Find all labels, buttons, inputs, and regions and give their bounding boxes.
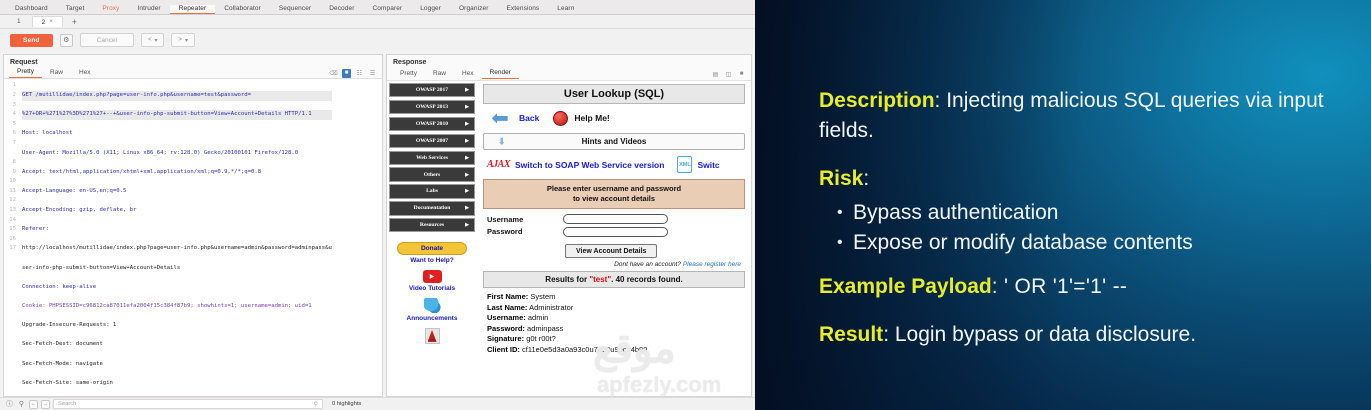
chevron-down-icon: ▾ xyxy=(154,37,157,44)
sidebar-item-web-services[interactable]: Web Services▶ xyxy=(389,151,475,165)
chevron-right-icon: ▶ xyxy=(465,138,469,144)
request-editor[interactable]: 1 2 3 4 5 6 7 8 9 10 11 12 13 1 xyxy=(4,79,382,396)
response-tools: ▤ ◫ ■ xyxy=(711,70,746,79)
request-line: Cookie: PHPSESSID=c96812ca87011efa2004f1… xyxy=(22,302,332,312)
request-line: Connection: keep-alive xyxy=(22,283,332,293)
line-number: 11 xyxy=(4,187,16,197)
username-label: Username xyxy=(483,215,563,224)
search-mode-icon[interactable]: ⚲ xyxy=(17,400,26,409)
risk-item: Bypass authentication xyxy=(853,198,1341,228)
payload-text: : ' OR '1'='1' -- xyxy=(992,275,1127,298)
request-line: Sec-Fetch-Dest: document xyxy=(22,340,332,350)
line-number: 10 xyxy=(4,177,16,187)
add-tab-button[interactable]: + xyxy=(65,17,84,27)
back-icon[interactable]: ← xyxy=(29,400,38,409)
main-tab-dashboard[interactable]: Dashboard xyxy=(6,5,57,15)
sidebar-item-owasp-2013[interactable]: OWASP 2013▶ xyxy=(389,100,475,114)
repeater-tab-1[interactable]: 1 xyxy=(8,17,30,27)
line-number: 8 xyxy=(4,158,16,168)
chevron-right-icon: ▶ xyxy=(465,104,469,110)
sidebar-item-owasp-2007[interactable]: OWASP 2007▶ xyxy=(389,134,475,148)
highlights-count: 0 highlights xyxy=(326,401,361,407)
password-label: Password xyxy=(483,227,563,236)
response-tab-render[interactable]: Render xyxy=(482,69,519,79)
next-label: > xyxy=(178,37,182,43)
request-tab-bar: Pretty Raw Hex ⌫ ■ ☷ ☰ xyxy=(4,68,382,79)
line-number: 16 xyxy=(4,235,16,245)
line-number: 17 xyxy=(4,244,16,254)
line-number: 9 xyxy=(4,168,16,178)
sidebar-label: Resources xyxy=(420,222,444,228)
sidebar-item-labs[interactable]: Labs▶ xyxy=(389,184,475,198)
main-tab-decoder[interactable]: Decoder xyxy=(320,5,363,15)
chevron-down-icon: ⬇ xyxy=(498,136,506,147)
response-pane: Response Pretty Raw Hex Render ▤ ◫ ■ OWA… xyxy=(386,54,752,397)
help-button-icon[interactable] xyxy=(553,111,568,126)
split-vertical-icon[interactable]: ▤ xyxy=(711,70,720,79)
record-label: Client ID: xyxy=(487,345,520,354)
main-tab-target[interactable]: Target xyxy=(57,5,94,15)
risk-list: Bypass authentication Expose or modify d… xyxy=(819,198,1341,258)
record-row: Username: admin xyxy=(487,313,745,324)
split-horizontal-icon[interactable]: ◫ xyxy=(724,70,733,79)
request-line: Upgrade-Insecure-Requests: 1 xyxy=(22,321,332,331)
record-list: First Name: System Last Name: Administra… xyxy=(483,292,745,355)
request-tools: ⌫ ■ ☷ ☰ xyxy=(329,69,377,78)
results-prefix: Results for xyxy=(545,275,589,284)
slide-content: Description: Injecting malicious SQL que… xyxy=(755,0,1371,350)
record-row: Client ID: cf11e0e5d3a0a93c0u7ud0u9bc24b… xyxy=(487,345,745,356)
send-button[interactable]: Send xyxy=(10,34,53,47)
chevron-right-icon: ▶ xyxy=(465,172,469,178)
request-tab-hex[interactable]: Hex xyxy=(71,69,99,78)
request-line: Accept-Language: en-US,en;q=0.5 xyxy=(22,187,332,197)
request-line: GET /mutillidae/index.php?page=user-info… xyxy=(22,91,332,101)
results-suffix: . 40 records found. xyxy=(611,275,683,284)
payload-key: Example Payload xyxy=(819,275,992,298)
sidebar-label: Labs xyxy=(426,188,438,194)
prev-label: < xyxy=(148,37,152,43)
request-pane: Request Pretty Raw Hex ⌫ ■ ☷ ☰ 1 2 xyxy=(3,54,383,397)
record-value: g0t r00t? xyxy=(526,334,556,343)
line-number-gutter: 1 2 3 4 5 6 7 8 9 10 11 12 13 1 xyxy=(4,79,19,396)
gear-icon[interactable]: ⚙ xyxy=(60,34,73,47)
sidebar-promos: Donate Want to Help? ▶ Video Tutorials A… xyxy=(389,235,475,344)
request-line: %27+OR+%271%27%3D%271%27+--+&user-info-p… xyxy=(22,110,332,120)
response-tab-pretty[interactable]: Pretty xyxy=(392,70,425,79)
request-line: User-Agent: Mozilla/5.0 (X11; Linux x86_… xyxy=(22,149,332,159)
main-tab-intruder[interactable]: Intruder xyxy=(129,5,170,15)
record-row: Signature: g0t r00t? xyxy=(487,334,745,345)
line-number: 6 xyxy=(4,129,16,139)
line-number: 14 xyxy=(4,216,16,226)
record-value: Administrator xyxy=(529,303,573,312)
back-arrow-icon[interactable]: ⬅ xyxy=(487,108,513,128)
sidebar-item-owasp-2010[interactable]: OWASP 2010▶ xyxy=(389,117,475,131)
register-row: Dont have an account? Please register he… xyxy=(483,261,745,268)
record-value: cf11e0e5d3a0a93c0u7ud0u9bc24b9̰9 xyxy=(522,345,647,354)
risk-colon: : xyxy=(863,167,869,190)
chevron-right-icon: ▶ xyxy=(465,188,469,194)
risk-block: Risk: xyxy=(819,164,1341,194)
request-line: ser-info-php-submit-button=View+Account+… xyxy=(22,264,332,274)
next-request-button[interactable]: > ▾ xyxy=(171,33,195,47)
request-line: Sec-Fetch-Mode: navigate xyxy=(22,360,332,370)
search-icon[interactable]: ⚲ xyxy=(314,401,318,408)
line-number: 5 xyxy=(4,120,16,130)
menu-icon[interactable]: ☰ xyxy=(368,69,377,78)
rendered-response: OWASP 2017▶ OWASP 2013▶ OWASP 2010▶ OWAS… xyxy=(387,81,751,396)
sidebar-item-owasp-2017[interactable]: OWASP 2017▶ xyxy=(389,83,475,97)
mutillidae-sidebar: OWASP 2017▶ OWASP 2013▶ OWASP 2010▶ OWAS… xyxy=(387,81,477,396)
description-block: Description: Injecting malicious SQL que… xyxy=(819,86,1341,146)
record-value: admin xyxy=(528,313,548,322)
chevron-right-icon: ▶ xyxy=(465,87,469,93)
ajax-icon: AJAX xyxy=(487,159,510,170)
response-tab-hex[interactable]: Hex xyxy=(454,70,482,79)
password-row: Password xyxy=(483,227,745,237)
request-line: Accept-Encoding: gzip, deflate, br xyxy=(22,206,332,216)
record-label: Last Name: xyxy=(487,303,527,312)
request-line: Accept: text/html,application/xhtml+xml,… xyxy=(22,168,332,178)
sidebar-item-documentation[interactable]: Documentation▶ xyxy=(389,201,475,215)
record-value: System xyxy=(530,292,555,301)
format-icon[interactable]: ■ xyxy=(342,69,351,78)
password-input[interactable] xyxy=(563,227,668,237)
request-tab-raw[interactable]: Raw xyxy=(42,69,71,78)
record-label: First Name: xyxy=(487,292,528,301)
result-block: Result: Login bypass or data disclosure. xyxy=(819,320,1341,350)
pdf-icon[interactable] xyxy=(425,328,440,344)
xml-switch-link[interactable]: Switc xyxy=(697,160,719,170)
inspector-icon[interactable]: ☷ xyxy=(355,69,364,78)
record-row: First Name: System xyxy=(487,292,745,303)
chevron-right-icon: ▶ xyxy=(465,155,469,161)
request-line: Sec-Fetch-Site: same-origin xyxy=(22,379,332,389)
main-tab-organizer[interactable]: Organizer xyxy=(450,5,497,15)
record-label: Signature: xyxy=(487,334,524,343)
username-input[interactable] xyxy=(563,214,668,224)
status-bar: ⓘ ⚲ ← → Search ⚲ 0 highlights xyxy=(0,397,755,410)
help-me-label[interactable]: Help Me! xyxy=(574,113,609,123)
repeater-toolbar: Send ⚙ Cancel < ▾ > ▾ xyxy=(0,29,755,51)
line-number: 15 xyxy=(4,225,16,235)
back-link[interactable]: Back xyxy=(519,113,539,123)
response-title: Response xyxy=(387,55,751,68)
youtube-icon[interactable]: ▶ xyxy=(423,270,442,283)
main-tab-proxy[interactable]: Proxy xyxy=(93,5,128,15)
repeater-tab-2[interactable]: 2 × xyxy=(32,16,63,27)
result-text: : Login bypass or data disclosure. xyxy=(883,323,1196,346)
login-notice: Please enter username and password to vi… xyxy=(483,179,745,209)
line-number: 2 xyxy=(4,91,16,101)
username-row: Username xyxy=(483,214,745,224)
mutillidae-content: User Lookup (SQL) ⬅ Back Help Me! ⬇ Hint… xyxy=(477,81,751,396)
result-key: Result xyxy=(819,323,883,346)
search-input[interactable]: Search ⚲ xyxy=(53,399,323,409)
repeater-tab-2-label: 2 xyxy=(42,19,46,26)
line-number: 7 xyxy=(4,139,16,149)
view-account-details-button[interactable]: View Account Details xyxy=(565,244,657,258)
close-icon[interactable]: × xyxy=(49,19,53,25)
forward-icon[interactable]: → xyxy=(41,400,50,409)
service-switch-row: AJAX Switch to SOAP Web Service version … xyxy=(487,156,745,173)
main-tab-bar: Dashboard Target Proxy Intruder Repeater… xyxy=(0,0,755,15)
register-link[interactable]: Please register here xyxy=(683,261,741,268)
twitter-bird-icon[interactable] xyxy=(424,298,441,313)
repeater-tab-bar: 1 2 × + xyxy=(0,15,755,29)
line-number: 3 xyxy=(4,101,16,111)
record-label: Username: xyxy=(487,313,526,322)
line-number: 4 xyxy=(4,110,16,120)
description-key: Description xyxy=(819,89,935,112)
request-title: Request xyxy=(4,55,382,68)
request-line: Referer: xyxy=(22,225,332,235)
record-row: Password: adminpass xyxy=(487,324,745,335)
spacer xyxy=(819,258,1341,272)
search-placeholder: Search xyxy=(58,401,76,407)
burp-suite-window: Dashboard Target Proxy Intruder Repeater… xyxy=(0,0,755,410)
sidebar-label: OWASP 2013 xyxy=(416,104,448,110)
line-number: 12 xyxy=(4,196,16,206)
record-row: Last Name: Administrator xyxy=(487,303,745,314)
want-to-help-link[interactable]: Want to Help? xyxy=(389,257,475,264)
results-bar: Results for "test". 40 records found. xyxy=(483,271,745,288)
request-line: http://localhost/mutillidae/index.php?pa… xyxy=(22,244,332,254)
sidebar-label: OWASP 2017 xyxy=(416,87,448,93)
screen-root: Dashboard Target Proxy Intruder Repeater… xyxy=(0,0,1371,410)
record-label: Password: xyxy=(487,324,525,333)
video-tutorials-link[interactable]: Video Tutorials xyxy=(389,285,475,292)
register-prefix: Dont have an account? xyxy=(614,261,683,268)
notice-line-2: to view account details xyxy=(494,194,734,204)
main-tab-sequencer[interactable]: Sequencer xyxy=(270,5,320,15)
record-value: adminpass xyxy=(527,324,563,333)
notice-line-1: Please enter username and password xyxy=(494,184,734,194)
main-tab-repeater[interactable]: Repeater xyxy=(170,5,216,15)
sidebar-label: OWASP 2010 xyxy=(416,121,448,127)
response-tab-raw[interactable]: Raw xyxy=(425,70,454,79)
main-tab-learn[interactable]: Learn xyxy=(548,5,583,15)
help-icon[interactable]: ⓘ xyxy=(5,400,14,409)
payload-block: Example Payload: ' OR '1'='1' -- xyxy=(819,272,1341,302)
line-number: 13 xyxy=(4,206,16,216)
risk-key: Risk xyxy=(819,167,863,190)
hints-and-videos-bar[interactable]: ⬇ Hints and Videos xyxy=(483,133,745,150)
request-line: Host: localhost xyxy=(22,129,332,139)
nav-row: ⬅ Back Help Me! xyxy=(487,108,745,128)
response-tab-bar: Pretty Raw Hex Render ▤ ◫ ■ xyxy=(387,68,751,81)
soap-switch-link[interactable]: Switch to SOAP Web Service version xyxy=(515,160,664,170)
chevron-right-icon: ▶ xyxy=(465,222,469,228)
main-tab-comparer[interactable]: Comparer xyxy=(363,5,411,15)
sidebar-label: OWASP 2007 xyxy=(416,138,448,144)
page-title: User Lookup (SQL) xyxy=(483,84,745,104)
cancel-button[interactable]: Cancel xyxy=(80,33,134,47)
maximize-icon[interactable]: ■ xyxy=(737,70,746,79)
main-tab-logger[interactable]: Logger xyxy=(411,5,450,15)
hints-label: Hints and Videos xyxy=(582,137,647,146)
xml-icon: XML xyxy=(677,156,692,173)
sidebar-label: Documentation xyxy=(414,205,451,211)
line-number: 1 xyxy=(4,81,16,91)
prev-request-button[interactable]: < ▾ xyxy=(141,33,165,47)
sidebar-label: Web Services xyxy=(416,155,448,161)
no-wrap-icon[interactable]: ⌫ xyxy=(329,69,338,78)
risk-item: Expose or modify database contents xyxy=(853,228,1341,258)
presentation-slide: Description: Injecting malicious SQL que… xyxy=(755,0,1371,410)
request-body: GET /mutillidae/index.php?page=user-info… xyxy=(19,79,332,396)
sidebar-item-others[interactable]: Others▶ xyxy=(389,167,475,181)
request-tab-pretty[interactable]: Pretty xyxy=(9,68,42,78)
chevron-down-icon: ▾ xyxy=(185,37,188,44)
main-tab-collaborator[interactable]: Collaborator xyxy=(215,5,270,15)
repeater-tab-1-label: 1 xyxy=(17,18,21,25)
chevron-right-icon: ▶ xyxy=(465,121,469,127)
editor-panes: Request Pretty Raw Hex ⌫ ■ ☷ ☰ 1 2 xyxy=(0,51,755,397)
chevron-right-icon: ▶ xyxy=(465,205,469,211)
main-tab-extensions[interactable]: Extensions xyxy=(497,5,548,15)
announcements-link[interactable]: Announcements xyxy=(389,315,475,322)
donate-button[interactable]: Donate xyxy=(397,242,467,255)
sidebar-item-resources[interactable]: Resources▶ xyxy=(389,218,475,232)
sidebar-label: Others xyxy=(424,172,440,178)
results-query: "test" xyxy=(589,275,611,284)
